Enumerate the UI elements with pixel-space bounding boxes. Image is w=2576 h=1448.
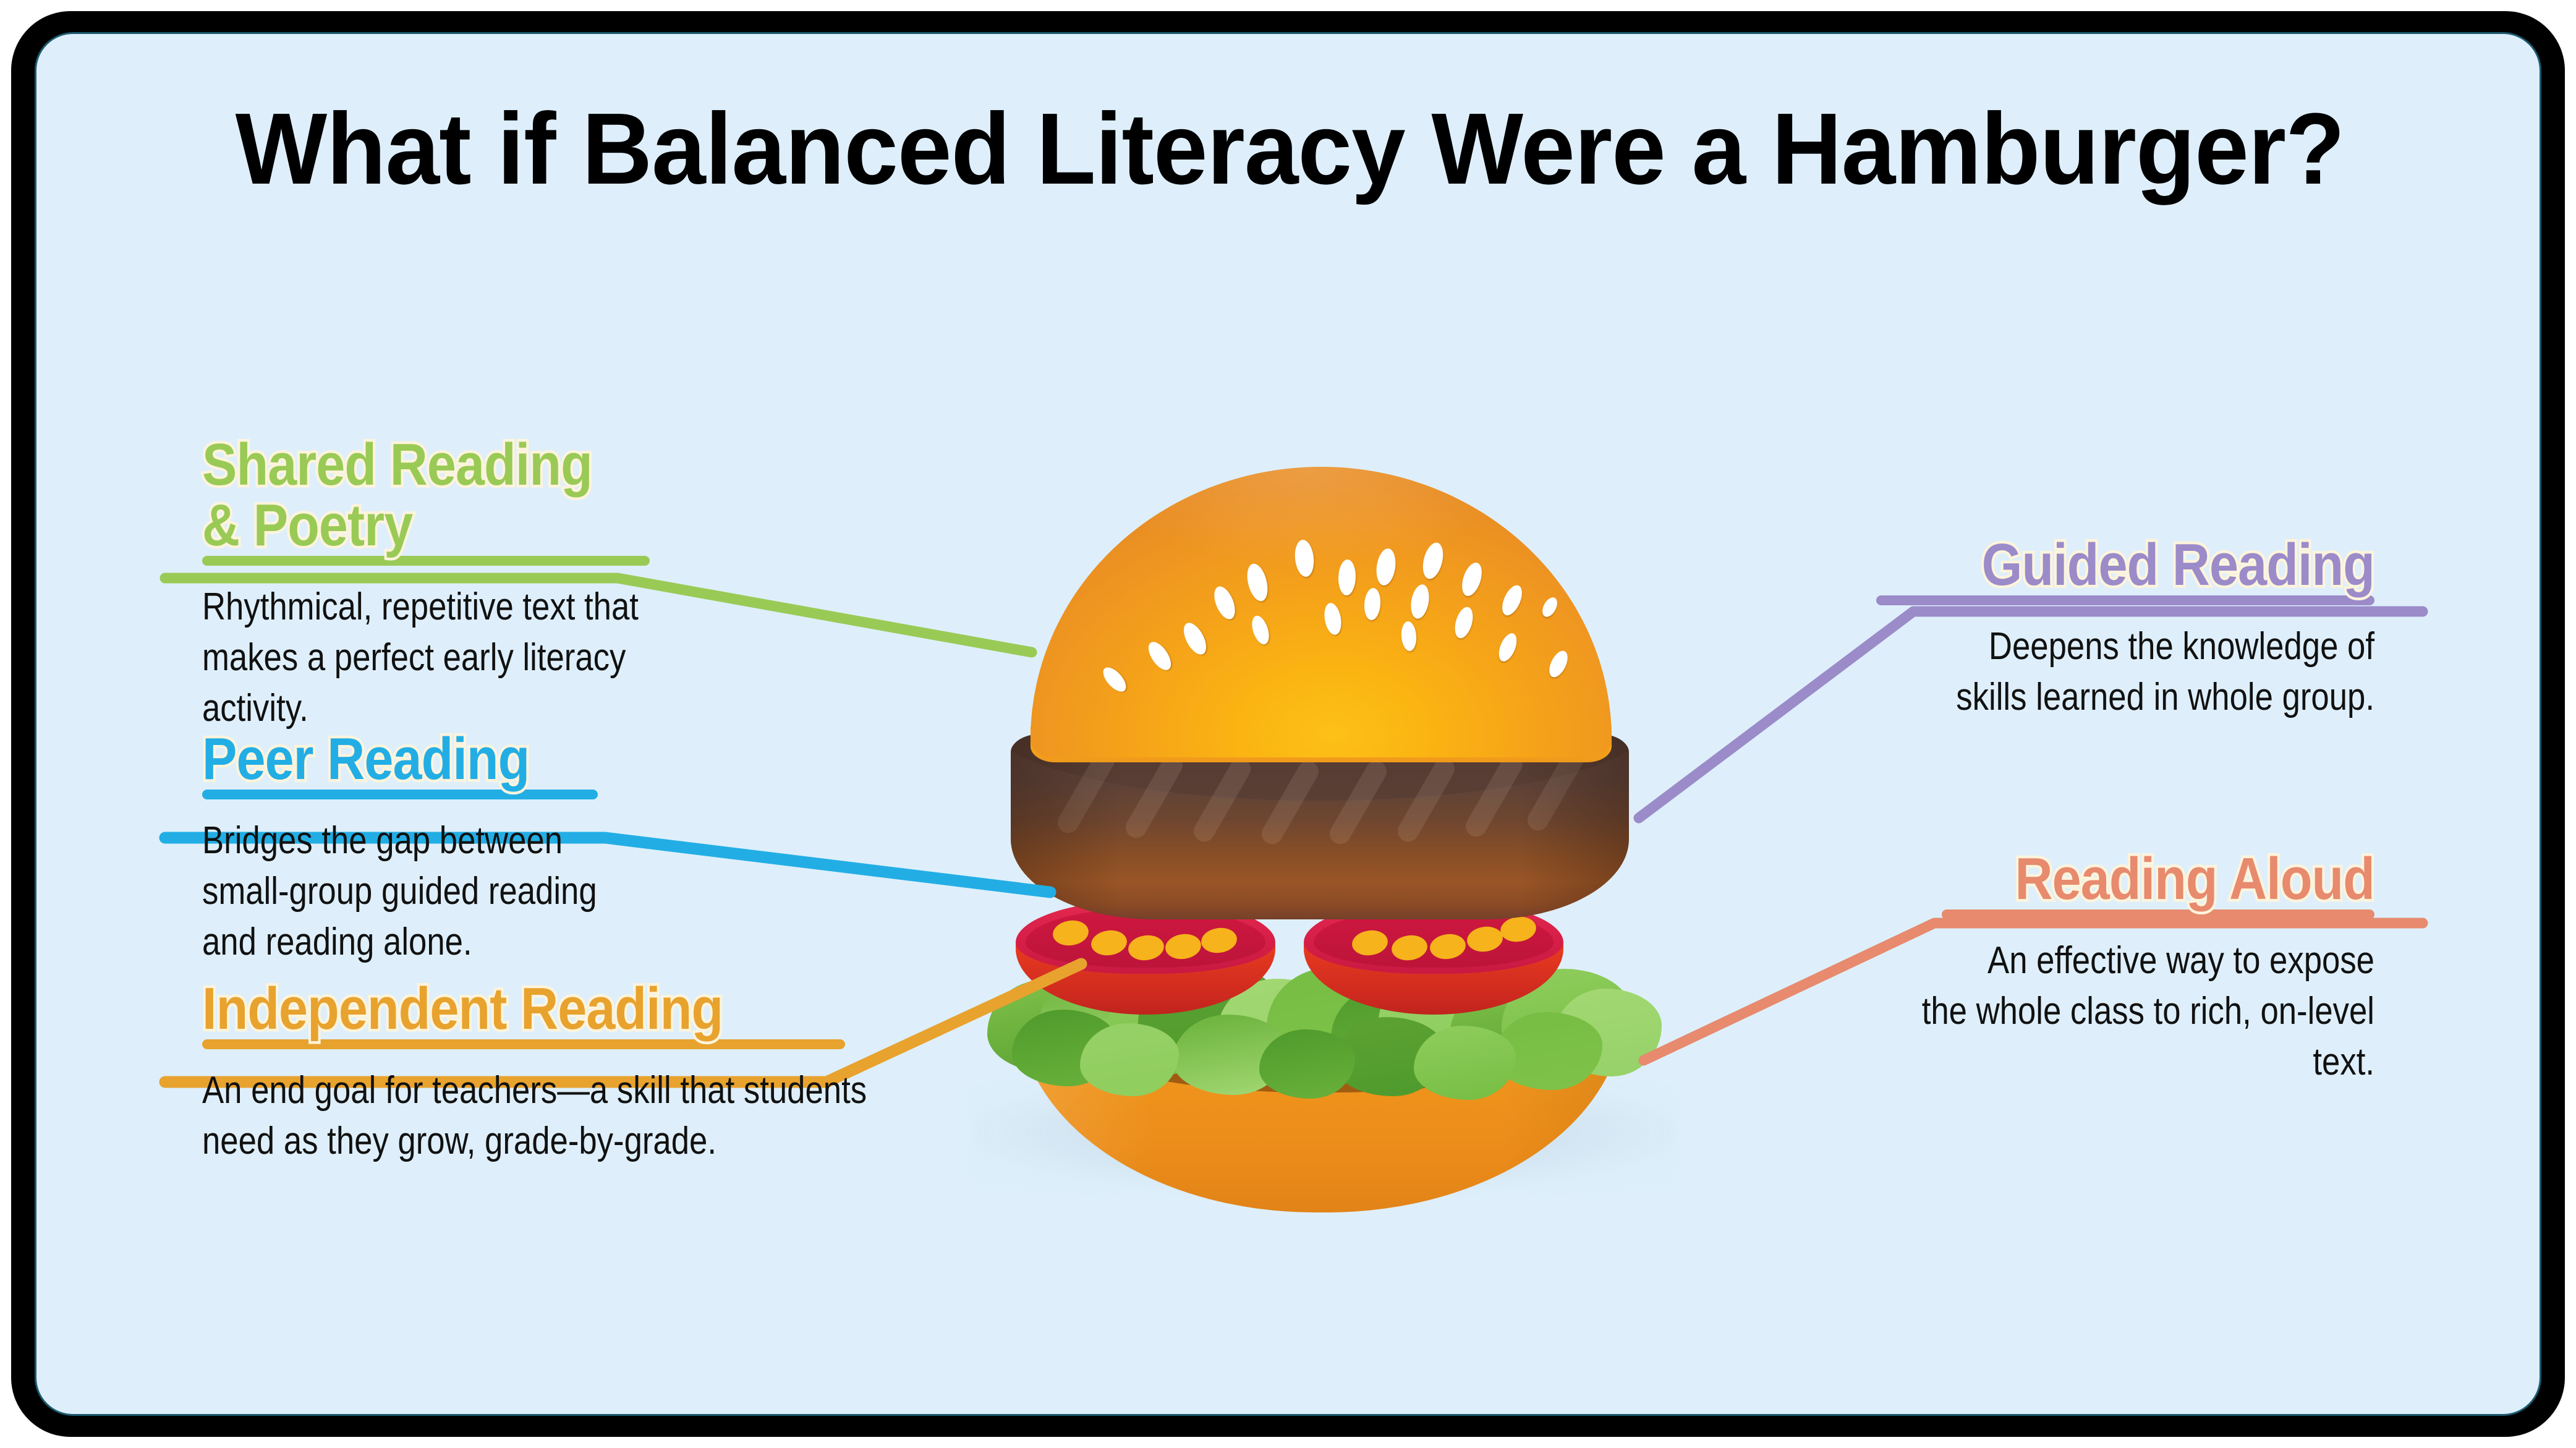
label-shared-reading: Shared Reading & Poetry Rhythmical, repe… [202,435,734,734]
label-reading-aloud: Reading Aloud An effective way to expose… [1829,849,2374,1088]
content-panel: What if Balanced Literacy Were a Hamburg… [35,32,2541,1416]
label-heading-guided-reading: Guided Reading [1895,535,2374,595]
label-independent-reading: Independent Reading An end goal for teac… [202,979,1018,1167]
label-body-peer-reading: Bridges the gap between small-group guid… [202,816,601,968]
label-guided-reading: Guided Reading Deepens the knowledge of … [1829,535,2374,723]
label-body-reading-aloud: An effective way to expose the whole cla… [1911,935,2374,1088]
label-heading-shared-reading: Shared Reading & Poetry [202,435,670,556]
label-body-guided-reading: Deepens the knowledge of skills learned … [1911,621,2374,723]
label-body-shared-reading: Rhythmical, repetitive text that makes a… [202,582,654,734]
label-body-independent-reading: An end goal for teachers—a skill that st… [202,1065,896,1167]
infographic-canvas: What if Balanced Literacy Were a Hamburg… [0,0,2576,1448]
label-heading-reading-aloud: Reading Aloud [1895,849,2374,909]
label-heading-peer-reading: Peer Reading [202,729,616,790]
label-heading-independent-reading: Independent Reading [202,979,920,1039]
label-peer-reading: Peer Reading Bridges the gap between sma… [202,729,672,968]
